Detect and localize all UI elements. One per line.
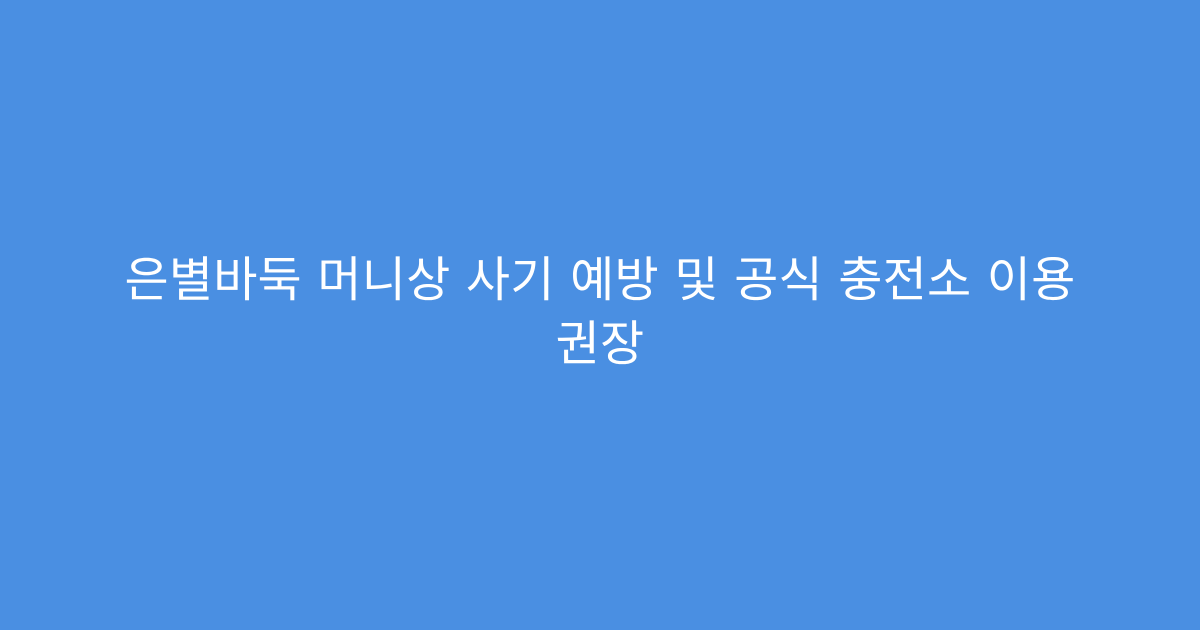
og-banner: 은별바둑 머니상 사기 예방 및 공식 충전소 이용 권장 <box>0 0 1200 630</box>
banner-content: 은별바둑 머니상 사기 예방 및 공식 충전소 이용 권장 <box>80 248 1120 376</box>
page-title: 은별바둑 머니상 사기 예방 및 공식 충전소 이용 권장 <box>80 248 1120 376</box>
